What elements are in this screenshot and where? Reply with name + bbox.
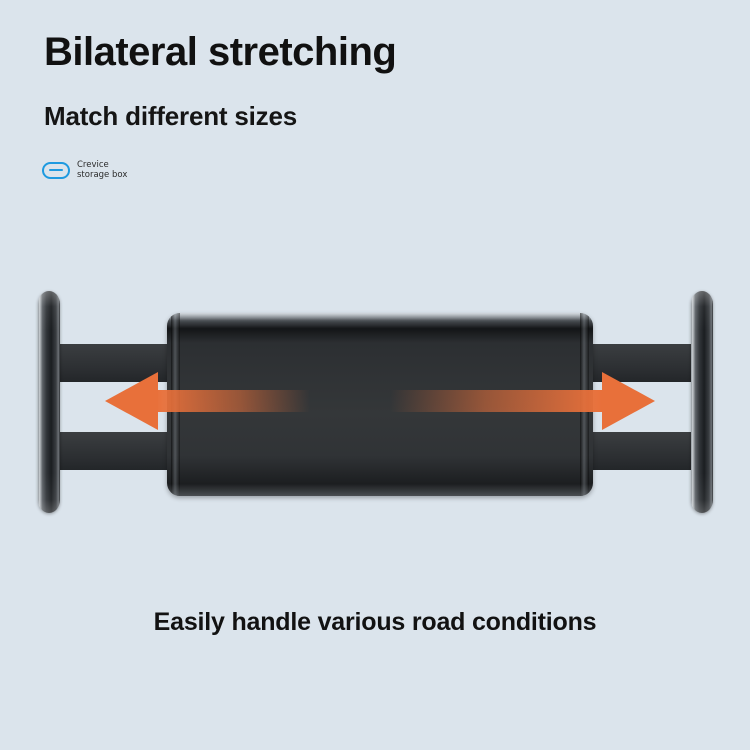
stretch-arrow-right-icon: [390, 368, 660, 434]
bottom-caption: Easily handle various road conditions: [0, 608, 750, 637]
end-cap-left: [38, 291, 60, 513]
body-bottom-highlight: [167, 484, 593, 496]
end-cap-right: [691, 291, 713, 513]
stretch-arrow-left-icon: [100, 368, 310, 434]
body-top-highlight: [167, 313, 593, 329]
product-illustration: [0, 0, 750, 750]
